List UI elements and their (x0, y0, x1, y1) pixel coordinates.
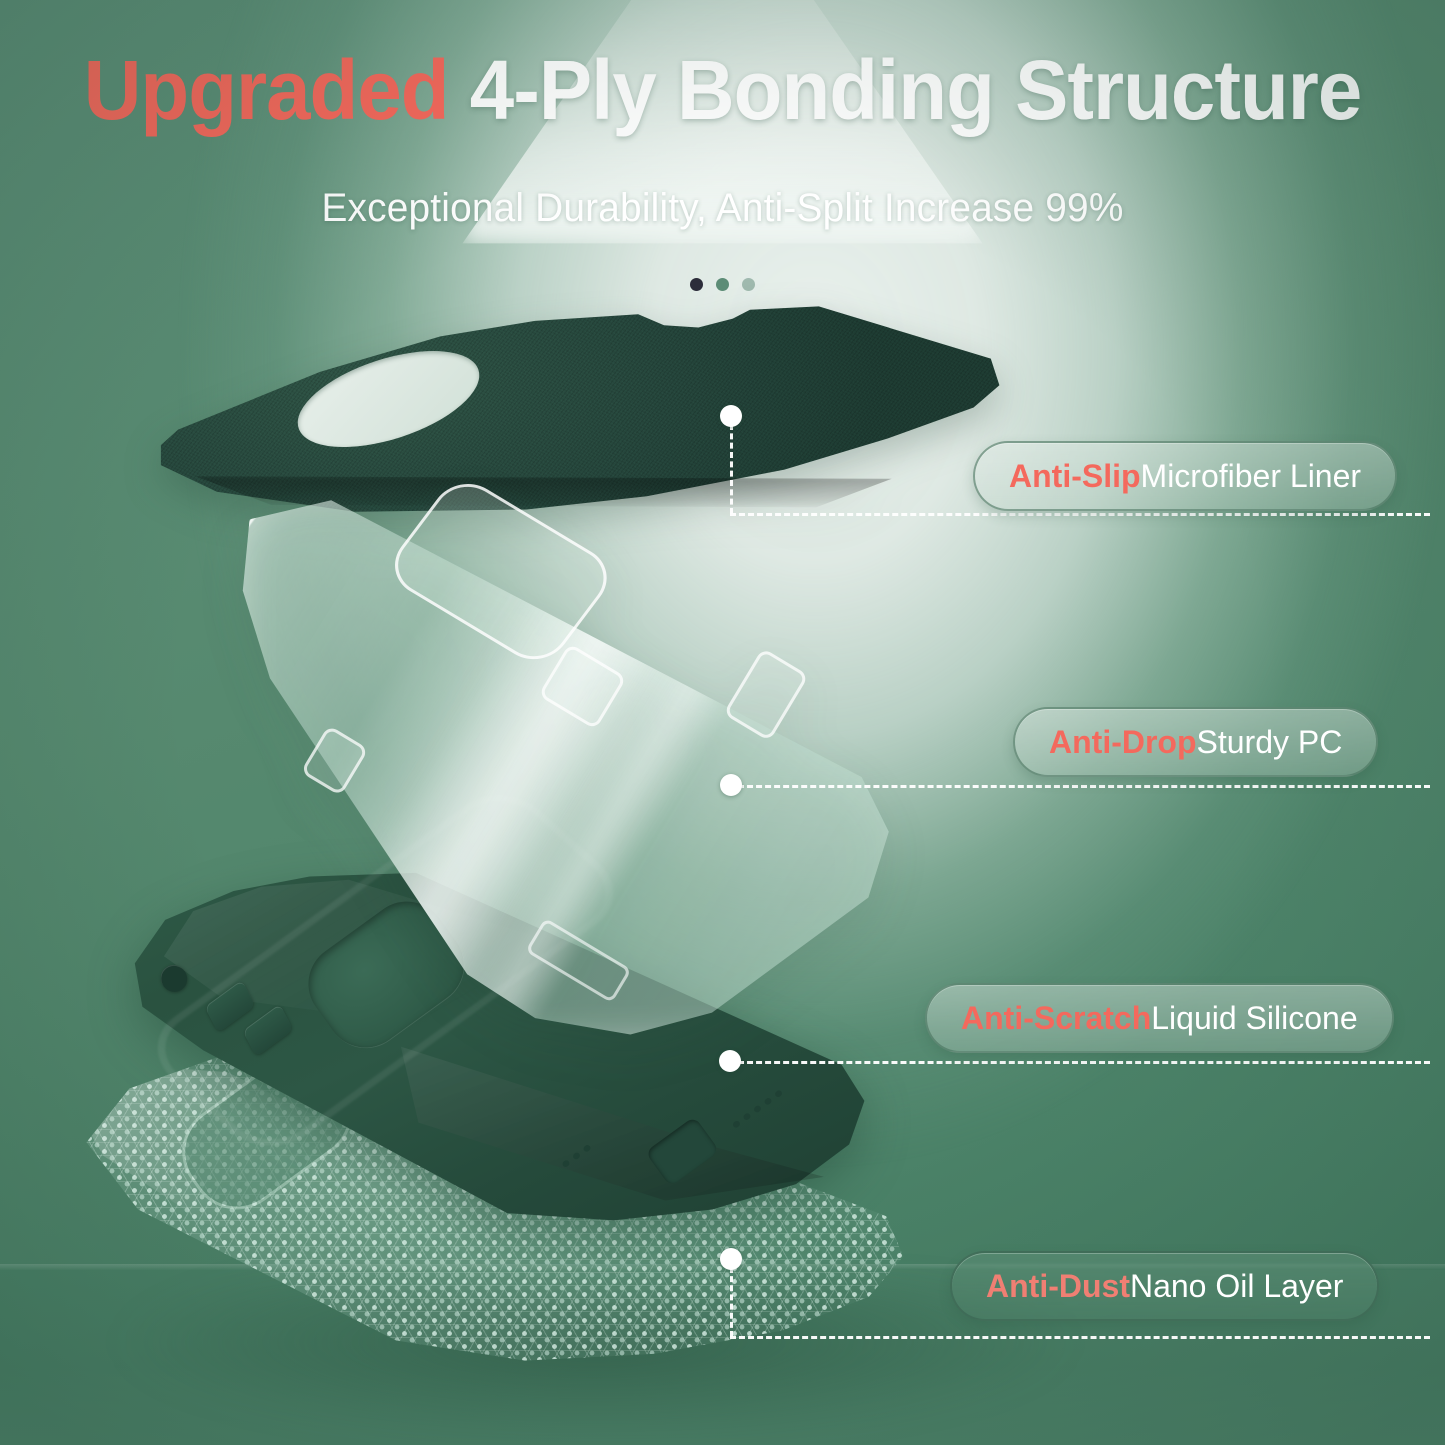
callout-accent-microfiber: Anti-Slip (1009, 460, 1141, 492)
callout-leader-horizontal-microfiber (730, 513, 1430, 516)
callout-pill-nano-oil[interactable]: Anti-Dust Nano Oil Layer (950, 1251, 1379, 1321)
callout-pill-microfiber-liner[interactable]: Anti-Slip Microfiber Liner (973, 441, 1397, 511)
callout-label-microfiber: Microfiber Liner (1141, 460, 1362, 492)
product-infographic: Upgraded 4-Ply Bonding Structure Excepti… (0, 0, 1445, 1445)
dot-green-icon (716, 278, 729, 291)
callout-marker-nano (720, 1248, 742, 1270)
callout-label-silicone: Liquid Silicone (1151, 1002, 1357, 1034)
callout-leader-horizontal-silicone (738, 1061, 1430, 1064)
callout-leader-horizontal-pc (738, 785, 1430, 788)
callout-accent-silicone: Anti-Scratch (961, 1002, 1151, 1034)
title-plain-words: 4-Ply Bonding Structure (470, 43, 1361, 137)
callout-marker-microfiber (720, 405, 742, 427)
page-subtitle: Exceptional Durability, Anti-Split Incre… (22, 186, 1424, 231)
microfiber-liner (148, 292, 1008, 514)
callout-label-pc: Sturdy PC (1197, 726, 1343, 758)
dot-dark-icon (690, 278, 703, 291)
callout-accent-pc: Anti-Drop (1049, 726, 1197, 758)
callout-marker-pc (720, 774, 742, 796)
dot-light-icon (742, 278, 755, 291)
callout-label-nano: Nano Oil Layer (1130, 1270, 1343, 1302)
callout-pill-liquid-silicone[interactable]: Anti-Scratch Liquid Silicone (925, 983, 1394, 1053)
callout-leader-vertical-nano (730, 1267, 733, 1337)
callout-accent-nano: Anti-Dust (986, 1270, 1130, 1302)
callout-pill-sturdy-pc[interactable]: Anti-Drop Sturdy PC (1013, 707, 1378, 777)
title-accent-word: Upgraded (84, 43, 449, 137)
callout-leader-vertical-microfiber (730, 424, 733, 514)
decorative-dot-group (0, 278, 1445, 291)
page-title: Upgraded 4-Ply Bonding Structure (36, 46, 1409, 135)
callout-leader-horizontal-nano (730, 1336, 1430, 1339)
sturdy-pc-shell (236, 492, 916, 1040)
callout-marker-silicone (719, 1050, 741, 1072)
